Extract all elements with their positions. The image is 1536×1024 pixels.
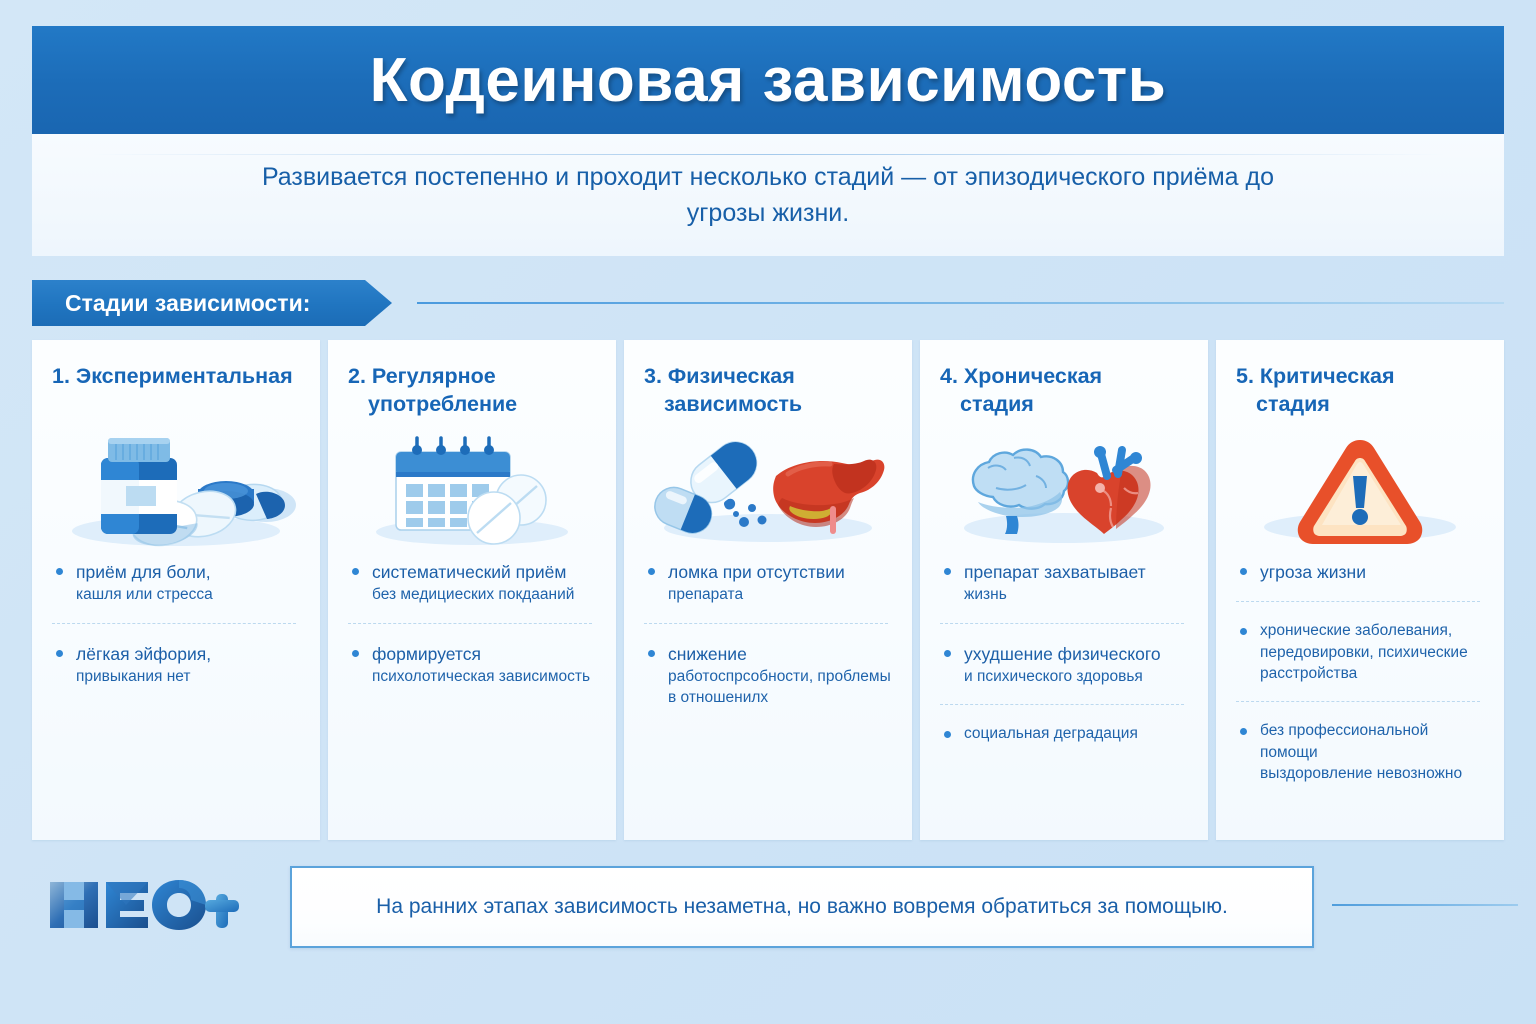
- bullet-main: препарат захватывает: [964, 562, 1146, 582]
- brain-and-heart-icon: [940, 428, 1188, 548]
- bullet-sub: психолотическая зависимость: [372, 666, 596, 687]
- capsule-and-liver-icon: [644, 428, 892, 548]
- bullet-sub: кашля или стресса: [76, 584, 300, 605]
- list-item: хронические заболевания, передовировки, …: [1236, 601, 1484, 684]
- section-tag: Стадии зависимости:: [32, 280, 392, 326]
- stage-card-5[interactable]: 5. Критическая стадия угроза жизни: [1216, 340, 1504, 840]
- list-item: угроза жизни: [1236, 560, 1484, 584]
- calendar-and-pills-icon: [348, 428, 596, 548]
- stage-card-3-title-line2: зависимость: [644, 390, 892, 418]
- bullet-main: ухудшение физического: [964, 644, 1161, 664]
- stage-card-2-title-line1: 2. Регулярное: [348, 364, 496, 388]
- list-item: препарат захватывает жизнь: [940, 560, 1188, 606]
- stage-card-5-title-line1: 5. Критическая: [1236, 364, 1395, 388]
- stage-card-2[interactable]: 2. Регулярное употребление: [328, 340, 616, 840]
- stage-cards: 1. Экспериментальная: [32, 340, 1504, 840]
- stage-card-2-title: 2. Регулярное употребление: [348, 362, 596, 424]
- stage-card-4-title-line1: 4. Хроническая: [940, 364, 1102, 388]
- stage-card-5-bullets: угроза жизни хронические заболевания, пе…: [1236, 560, 1484, 784]
- stage-card-3-title: 3. Физическая зависимость: [644, 362, 892, 424]
- bullet-sub: работоспрсобности, проблемы в отношенилх: [668, 666, 892, 709]
- list-item: систематический приём без медициеских по…: [348, 560, 596, 606]
- bullet-main: без профессиональной помощи: [1260, 720, 1484, 763]
- list-item: социальная деградация: [940, 704, 1188, 744]
- list-item: ухудшение физического и психического здо…: [940, 623, 1188, 688]
- section-tag-label: Стадии зависимости:: [32, 290, 310, 317]
- footer-accent-line: [1332, 904, 1518, 906]
- stage-card-1-title: 1. Экспериментальная: [52, 362, 300, 424]
- pill-bottle-and-tablets-icon: [52, 428, 300, 548]
- bullet-sub: жизнь: [964, 584, 1188, 605]
- brand-logo-neo-plus: [46, 874, 256, 936]
- list-item: приём для боли, кашля или стресса: [52, 560, 300, 606]
- bullet-main: приём для боли,: [76, 562, 211, 582]
- stage-card-5-title-line2: стадия: [1236, 390, 1484, 418]
- footer-note: На ранних этапах зависимость незаметна, …: [290, 866, 1314, 948]
- bullet-main: хронические заболевания,: [1260, 620, 1484, 641]
- bullet-sub: и психического здоровья: [964, 666, 1188, 687]
- subtitle-divider: [92, 154, 1444, 155]
- list-item: лёгкая эйфория, привыкания нет: [52, 623, 300, 688]
- bullet-main: систематический приём: [372, 562, 566, 582]
- stage-card-4-title: 4. Хроническая стадия: [940, 362, 1188, 424]
- stage-card-2-bullets: систематический приём без медициеских по…: [348, 560, 596, 687]
- bullet-main: социальная деградация: [964, 723, 1188, 744]
- stage-card-3-bullets: ломка при отсутствии препарата снижение …: [644, 560, 892, 708]
- stage-card-5-title: 5. Критическая стадия: [1236, 362, 1484, 424]
- bullet-main: снижение: [668, 644, 747, 664]
- bullet-main: формируется: [372, 644, 481, 664]
- bullet-sub: без медициеских покдааний: [372, 584, 596, 605]
- list-item: без профессиональной помощи выздоровлени…: [1236, 701, 1484, 784]
- stage-card-1-bullets: приём для боли, кашля или стресса лёгкая…: [52, 560, 300, 687]
- stage-card-4-bullets: препарат захватывает жизнь ухудшение физ…: [940, 560, 1188, 744]
- stage-card-4-title-line2: стадия: [940, 390, 1188, 418]
- stage-card-3[interactable]: 3. Физическая зависимость: [624, 340, 912, 840]
- footer: На ранних этапах зависимость незаметна, …: [32, 852, 1504, 962]
- stage-card-1[interactable]: 1. Экспериментальная: [32, 340, 320, 840]
- page-subtitle: Развивается постепенно и проходит нескол…: [238, 159, 1298, 232]
- stage-card-3-title-line1: 3. Физическая: [644, 364, 795, 388]
- list-item: снижение работоспрсобности, проблемы в о…: [644, 623, 892, 709]
- subtitle-panel: Развивается постепенно и проходит нескол…: [32, 134, 1504, 256]
- list-item: ломка при отсутствии препарата: [644, 560, 892, 606]
- bullet-main: лёгкая эйфория,: [76, 644, 211, 664]
- stage-card-4[interactable]: 4. Хроническая стадия: [920, 340, 1208, 840]
- page-title: Кодеиновая зависимость: [370, 45, 1167, 116]
- section-tag-wrap: Стадии зависимости:: [32, 280, 1504, 326]
- bullet-main: ломка при отсутствии: [668, 562, 845, 582]
- title-bar: Кодеиновая зависимость: [32, 26, 1504, 134]
- warning-triangle-icon: [1236, 428, 1484, 548]
- bullet-sub: выздоровление невозножно: [1260, 763, 1484, 784]
- stage-card-1-title-line1: 1. Экспериментальная: [52, 364, 293, 388]
- section-tag-line: [417, 302, 1504, 304]
- footer-note-text: На ранних этапах зависимость незаметна, …: [376, 895, 1228, 919]
- bullet-sub: привыкания нет: [76, 666, 300, 687]
- bullet-main: угроза жизни: [1260, 562, 1366, 582]
- stage-card-2-title-line2: употребление: [348, 390, 596, 418]
- bullet-sub: передовировки, психические расстройства: [1260, 642, 1484, 685]
- list-item: формируется психолотическая зависимость: [348, 623, 596, 688]
- infographic-page: Кодеиновая зависимость Развивается посте…: [0, 0, 1536, 1024]
- bullet-sub: препарата: [668, 584, 892, 605]
